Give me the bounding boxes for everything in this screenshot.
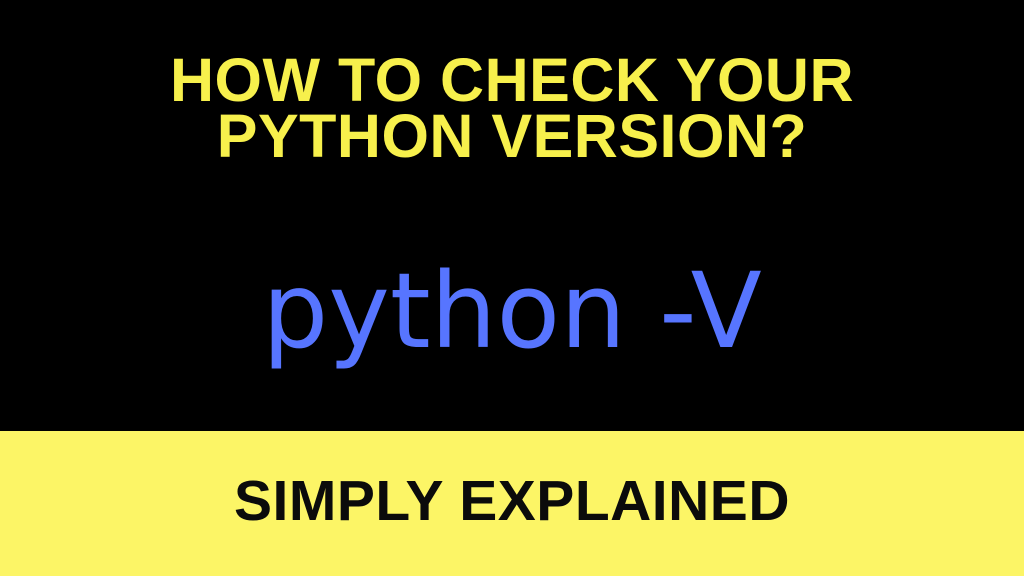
video-thumbnail: HOW TO CHECK YOUR PYTHON VERSION? python…	[0, 0, 1024, 576]
headline-line-1: HOW TO CHECK YOUR	[0, 52, 1024, 108]
bottom-yellow-banner: SIMPLY EXPLAINED	[0, 431, 1024, 576]
top-black-panel: HOW TO CHECK YOUR PYTHON VERSION? python…	[0, 0, 1024, 431]
command-text: python -V	[0, 252, 1024, 370]
banner-subtitle: SIMPLY EXPLAINED	[0, 473, 1024, 530]
headline-line-2: PYTHON VERSION?	[0, 108, 1024, 164]
headline-title: HOW TO CHECK YOUR PYTHON VERSION?	[0, 52, 1024, 164]
